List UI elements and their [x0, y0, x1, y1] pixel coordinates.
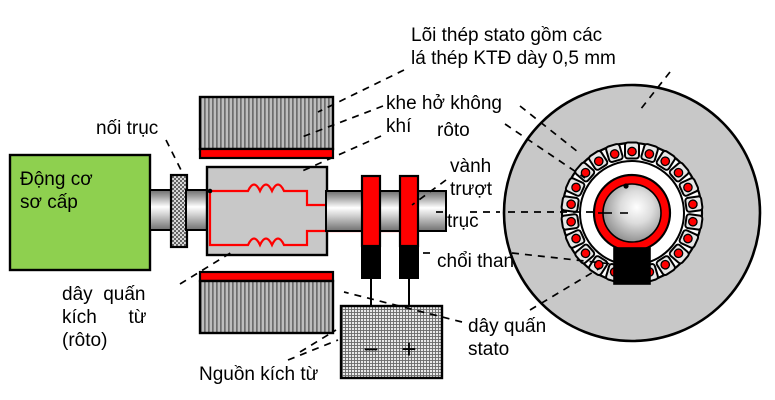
cross-section-brush	[614, 248, 650, 284]
rotor-label: rôto	[437, 119, 470, 142]
stator-core-lower	[200, 272, 333, 333]
stator-slot	[561, 214, 579, 230]
shaft-label: trục	[447, 210, 479, 233]
slip-ring-1	[362, 176, 380, 278]
slip-ring-label: vành trượt	[450, 155, 492, 201]
stator-slot	[685, 214, 703, 230]
stator-winding-label: dây quấn stato	[468, 315, 546, 361]
rotor-lead-dot	[623, 183, 628, 188]
stator-core-label: Lõi thép stato gồm các lá thép KTĐ dày 0…	[411, 24, 616, 70]
diagram-canvas: − + Lõi thép stato gồm các lá thép KTĐ d…	[0, 0, 775, 400]
shaft-mid-segment	[186, 190, 208, 230]
field-winding-label: dây quấn kích từ (rôto)	[62, 283, 147, 352]
brush-2	[400, 246, 418, 278]
battery-minus-symbol: −	[363, 334, 378, 364]
stator-slot	[625, 143, 639, 159]
brush-label: chổi than	[437, 250, 514, 273]
shaft-right-segment	[326, 191, 446, 231]
stator-slot	[605, 143, 623, 162]
brush-1	[362, 246, 380, 278]
excitation-source-box	[341, 306, 442, 378]
stator-core-upper	[200, 97, 333, 158]
excitation-source-label: Nguồn kích từ	[199, 363, 318, 386]
coupling-block	[171, 175, 187, 247]
battery-plus-symbol: +	[401, 334, 416, 364]
stator-slot	[561, 196, 579, 212]
stator-slot	[685, 196, 703, 212]
stator-winding-lower	[200, 272, 333, 281]
coupling-label: nối trục	[96, 117, 158, 140]
stator-slot	[641, 143, 659, 162]
stator-winding-upper	[200, 149, 333, 158]
slip-ring-2	[400, 176, 418, 278]
prime-mover-label: Động cơ sơ cấp	[20, 168, 93, 214]
rotor-body	[207, 167, 327, 255]
